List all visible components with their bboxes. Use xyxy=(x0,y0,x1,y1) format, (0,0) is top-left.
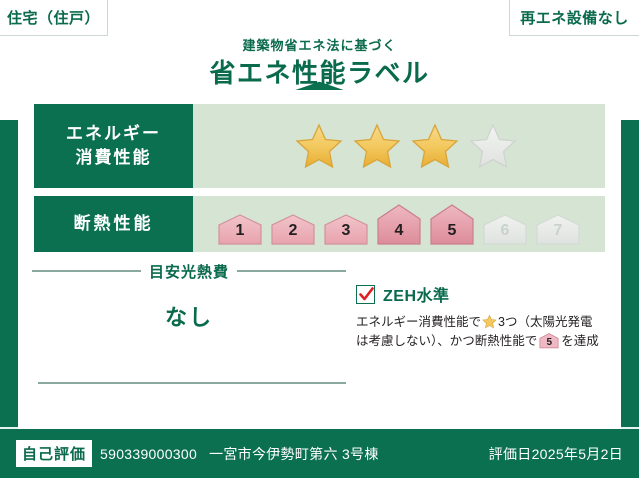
insulation-level-7-number: 7 xyxy=(534,223,582,239)
star-filled-icon-1 xyxy=(294,122,344,170)
lower-section: 目安光熱費 なし ZEH水準 エネルギー消費性能で3つ（太陽光発電 は考慮しない… xyxy=(18,262,621,429)
energy-cost-header: 目安光熱費 xyxy=(32,262,346,280)
insulation-level-scale: 1 2 3 xyxy=(216,203,582,245)
badge-renewable-equipment: 再エネ設備なし xyxy=(509,0,639,36)
star-filled-icon-3 xyxy=(410,122,460,170)
insulation-level-7: 7 xyxy=(534,213,582,245)
energy-cost-bottom-rule xyxy=(38,382,346,384)
zeh-desc-part3: を達成 xyxy=(561,334,599,348)
energy-cost-title: 目安光熱費 xyxy=(149,261,229,282)
zeh-desc-part1: エネルギー消費性能で xyxy=(356,315,481,329)
title-subtitle: 建築物省エネ法に基づく xyxy=(0,36,639,56)
zeh-desc-part2: は考慮しない）、かつ断熱性能で xyxy=(356,334,537,348)
footer-bar: 自己評価 590339000300 一宮市今伊勢町第六 3号棟 評価日2025年… xyxy=(0,429,639,478)
zeh-title: ZEH水準 xyxy=(383,282,450,306)
zeh-description: エネルギー消費性能で3つ（太陽光発電 は考慮しない）、かつ断熱性能で5を達成 xyxy=(356,313,608,351)
star-empty-icon-4 xyxy=(468,122,518,170)
title-main: 省エネ性能ラベル xyxy=(0,57,639,89)
insulation-level-5-number: 5 xyxy=(428,223,476,239)
insulation-level-4: 4 xyxy=(375,203,423,245)
insulation-level-5: 5 xyxy=(428,203,476,245)
check-icon xyxy=(358,286,375,303)
zeh-header: ZEH水準 xyxy=(356,282,608,306)
insulation-performance-row-body: 1 2 3 xyxy=(193,196,605,252)
inline-star-icon xyxy=(482,314,497,329)
zeh-checkbox[interactable] xyxy=(356,285,375,304)
energy-performance-row-label: エネルギー 消費性能 xyxy=(34,104,193,188)
badge-building-type: 住宅（住戸） xyxy=(0,0,108,36)
star-filled-icon-2 xyxy=(352,122,402,170)
insulation-label-line1: 断熱性能 xyxy=(74,212,154,236)
footer-evaluation-type-badge: 自己評価 xyxy=(16,440,92,467)
insulation-level-4-number: 4 xyxy=(375,223,423,239)
star-rating xyxy=(294,122,518,170)
insulation-performance-row: 断熱性能 1 xyxy=(34,196,605,252)
zeh-section: ZEH水準 エネルギー消費性能で3つ（太陽光発電 は考慮しない）、かつ断熱性能で… xyxy=(356,282,608,351)
energy-label-line1: エネルギー xyxy=(66,122,161,146)
insulation-level-2-number: 2 xyxy=(269,223,317,239)
badge-building-type-label: 住宅（住戸） xyxy=(7,7,100,28)
energy-performance-label: 住宅（住戸） 再エネ設備なし 建築物省エネ法に基づく 省エネ性能ラベル エネルギ… xyxy=(0,0,639,478)
insulation-level-6: 6 xyxy=(481,213,529,245)
insulation-level-1-number: 1 xyxy=(216,223,264,239)
insulation-level-2: 2 xyxy=(269,213,317,245)
footer-label-id: 590339000300 xyxy=(100,446,197,462)
inline-house-badge: 5 xyxy=(539,332,559,349)
energy-label-line2: 消費性能 xyxy=(76,146,152,170)
energy-performance-row: エネルギー 消費性能 xyxy=(34,104,605,188)
zeh-desc-stars: 3つ（太陽光発電 xyxy=(498,315,592,329)
insulation-level-3-number: 3 xyxy=(322,223,370,239)
insulation-level-1: 1 xyxy=(216,213,264,245)
insulation-level-6-number: 6 xyxy=(481,223,529,239)
inline-house-number: 5 xyxy=(539,338,559,348)
label-title-block: 建築物省エネ法に基づく 省エネ性能ラベル xyxy=(0,36,639,89)
energy-cost-rule-left xyxy=(32,270,141,272)
insulation-performance-row-label: 断熱性能 xyxy=(34,196,193,252)
badge-renewable-equipment-label: 再エネ設備なし xyxy=(520,7,629,28)
insulation-level-3: 3 xyxy=(322,213,370,245)
energy-cost-value: なし xyxy=(32,300,346,332)
label-body-card: エネルギー 消費性能 xyxy=(18,90,621,429)
energy-cost-rule-right xyxy=(237,270,346,272)
energy-performance-row-body xyxy=(193,104,605,188)
footer-address: 一宮市今伊勢町第六 3号棟 xyxy=(209,444,379,464)
footer-evaluation-date: 評価日2025年5月2日 xyxy=(489,444,623,464)
